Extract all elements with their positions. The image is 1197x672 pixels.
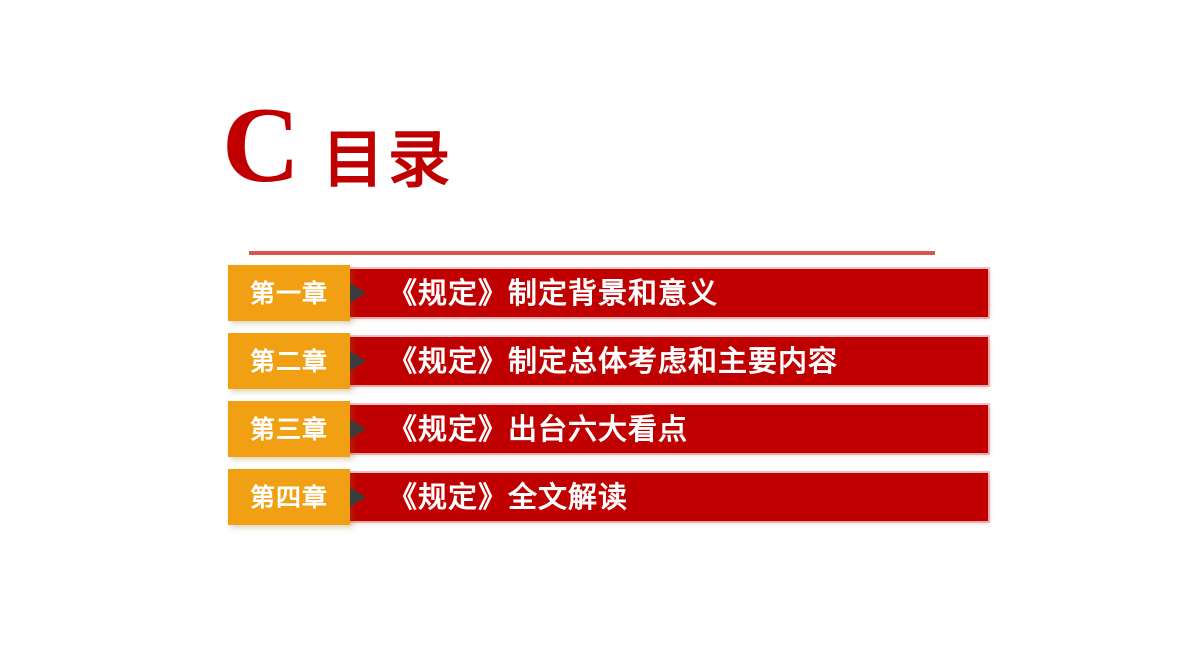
chapter-tag-label: 第三章 xyxy=(250,417,328,442)
chapter-title-label: 《规定》全文解读 xyxy=(388,473,628,521)
title-text: 目录 xyxy=(322,130,454,192)
chapter-tag-label: 第四章 xyxy=(250,485,328,510)
list-item[interactable]: 第三章 《规定》出台六大看点 xyxy=(0,405,1197,453)
chapter-tag-3: 第三章 xyxy=(228,401,350,457)
chapter-tag-label: 第一章 xyxy=(250,281,328,306)
chapter-title-label: 《规定》制定总体考虑和主要内容 xyxy=(388,337,838,385)
list-item[interactable]: 第二章 《规定》制定总体考虑和主要内容 xyxy=(0,337,1197,385)
title-divider-rule xyxy=(249,251,935,255)
chapter-title-label: 《规定》出台六大看点 xyxy=(388,405,688,453)
chapter-list: 第一章 《规定》制定背景和意义 第二章 《规定》制定总体考虑和主要内容 第三章 … xyxy=(0,269,1197,541)
chapter-tag-2: 第二章 xyxy=(228,333,350,389)
triangle-right-icon xyxy=(350,283,366,303)
triangle-right-icon xyxy=(350,351,366,371)
page-title: C 目录 xyxy=(222,92,454,200)
title-initial-letter: C xyxy=(222,92,300,200)
list-item[interactable]: 第一章 《规定》制定背景和意义 xyxy=(0,269,1197,317)
list-item[interactable]: 第四章 《规定》全文解读 xyxy=(0,473,1197,521)
chapter-tag-1: 第一章 xyxy=(228,265,350,321)
slide-canvas: C 目录 第一章 《规定》制定背景和意义 第二章 《规定》制定总体考虑和主要内容… xyxy=(0,0,1197,672)
chapter-tag-4: 第四章 xyxy=(228,469,350,525)
triangle-right-icon xyxy=(350,419,366,439)
chapter-tag-label: 第二章 xyxy=(250,349,328,374)
triangle-right-icon xyxy=(350,487,366,507)
chapter-title-label: 《规定》制定背景和意义 xyxy=(388,269,718,317)
